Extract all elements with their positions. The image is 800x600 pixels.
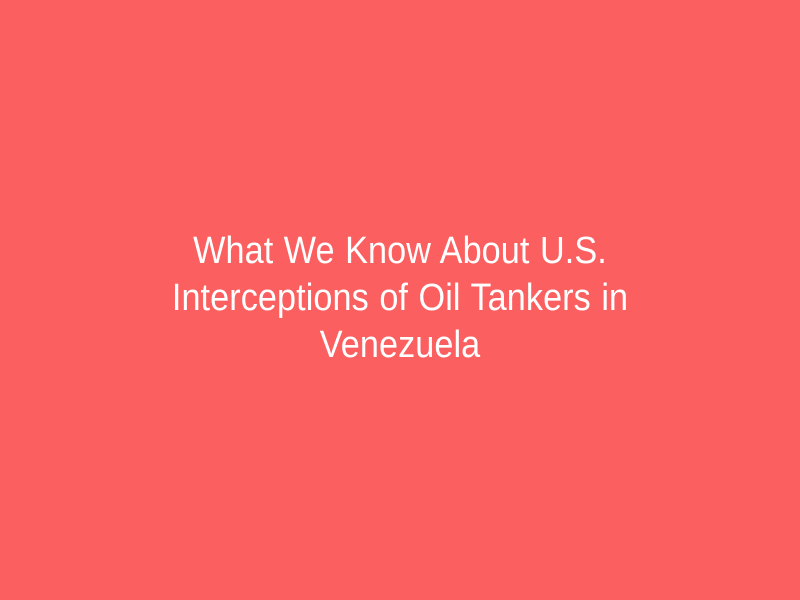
placeholder-card: What We Know About U.S. Interceptions of…: [0, 0, 800, 600]
headline-block: What We Know About U.S. Interceptions of…: [50, 228, 750, 369]
page-title: What We Know About U.S. Interceptions of…: [92, 228, 708, 369]
